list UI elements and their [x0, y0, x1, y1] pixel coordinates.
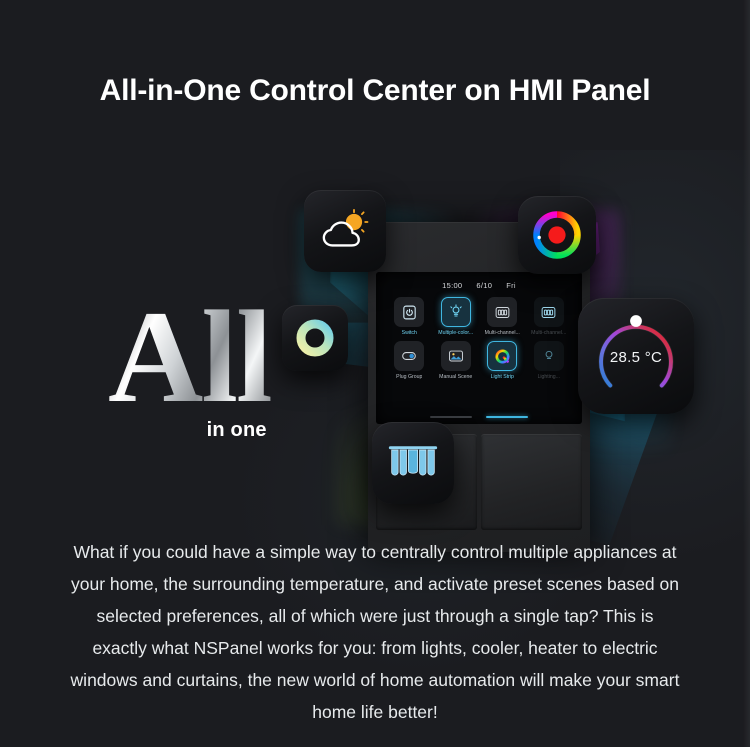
power-switch-icon	[394, 297, 424, 327]
panel-app-manual-scene[interactable]: Manual Scene	[433, 341, 480, 380]
multi-channel-icon	[534, 297, 564, 327]
panel-app-multi-channel-2[interactable]: Multi-channel...	[526, 297, 573, 336]
body-paragraph: What if you could have a simple way to c…	[70, 536, 680, 728]
light-strip-icon	[487, 341, 517, 371]
rgb-wheel-icon	[518, 196, 596, 274]
status-time: 15:00	[442, 281, 462, 290]
panel-page-indicator	[376, 416, 582, 418]
panel-app-multi-channel-1[interactable]: Multi-channel...	[479, 297, 526, 336]
wordmark: All in one	[108, 296, 271, 442]
panel-app-label: Light Strip	[491, 374, 514, 380]
page-dot-active	[486, 416, 528, 418]
curtain-icon	[372, 422, 454, 504]
panel-app-label: Multi-channel...	[485, 330, 520, 336]
status-date: 6/10	[476, 281, 492, 290]
panel-app-lighting[interactable]: Lighting...	[526, 341, 573, 380]
panel-status-bar: 15:00 6/10 Fri	[376, 281, 582, 290]
panel-app-label: Multiple-color...	[438, 330, 473, 336]
panel-app-grid: Switch Multiple-color...	[386, 297, 572, 380]
scene-picture-icon	[441, 341, 471, 371]
panel-app-multiple-color[interactable]: Multiple-color...	[433, 297, 480, 336]
panel-app-label: Lighting...	[538, 374, 561, 380]
page-title: All-in-One Control Center on HMI Panel	[0, 74, 750, 108]
lighting-icon	[534, 341, 564, 371]
panel-app-light-strip[interactable]: Light Strip	[479, 341, 526, 380]
panel-app-label: Plug Group	[396, 374, 422, 380]
thermostat-widget[interactable]: 28.5 °C	[578, 298, 694, 414]
plug-toggle-icon	[394, 341, 424, 371]
panel-app-label: Manual Scene	[439, 374, 472, 380]
multi-channel-icon	[487, 297, 517, 327]
page-dot-inactive	[430, 416, 472, 418]
panel-app-label: Switch	[402, 330, 417, 336]
panel-app-plug-group[interactable]: Plug Group	[386, 341, 433, 380]
wordmark-main: All	[108, 296, 271, 417]
thermostat-value: 28.5 °C	[578, 349, 694, 366]
physical-button-right[interactable]	[481, 434, 582, 530]
panel-app-switch[interactable]: Switch	[386, 297, 433, 336]
weather-icon	[304, 190, 386, 272]
color-bulb-icon	[441, 297, 471, 327]
panel-screen[interactable]: 15:00 6/10 Fri Switch	[376, 272, 582, 424]
dimmer-ring-icon	[282, 305, 348, 371]
panel-app-label: Multi-channel...	[531, 330, 566, 336]
status-weekday: Fri	[506, 281, 516, 290]
